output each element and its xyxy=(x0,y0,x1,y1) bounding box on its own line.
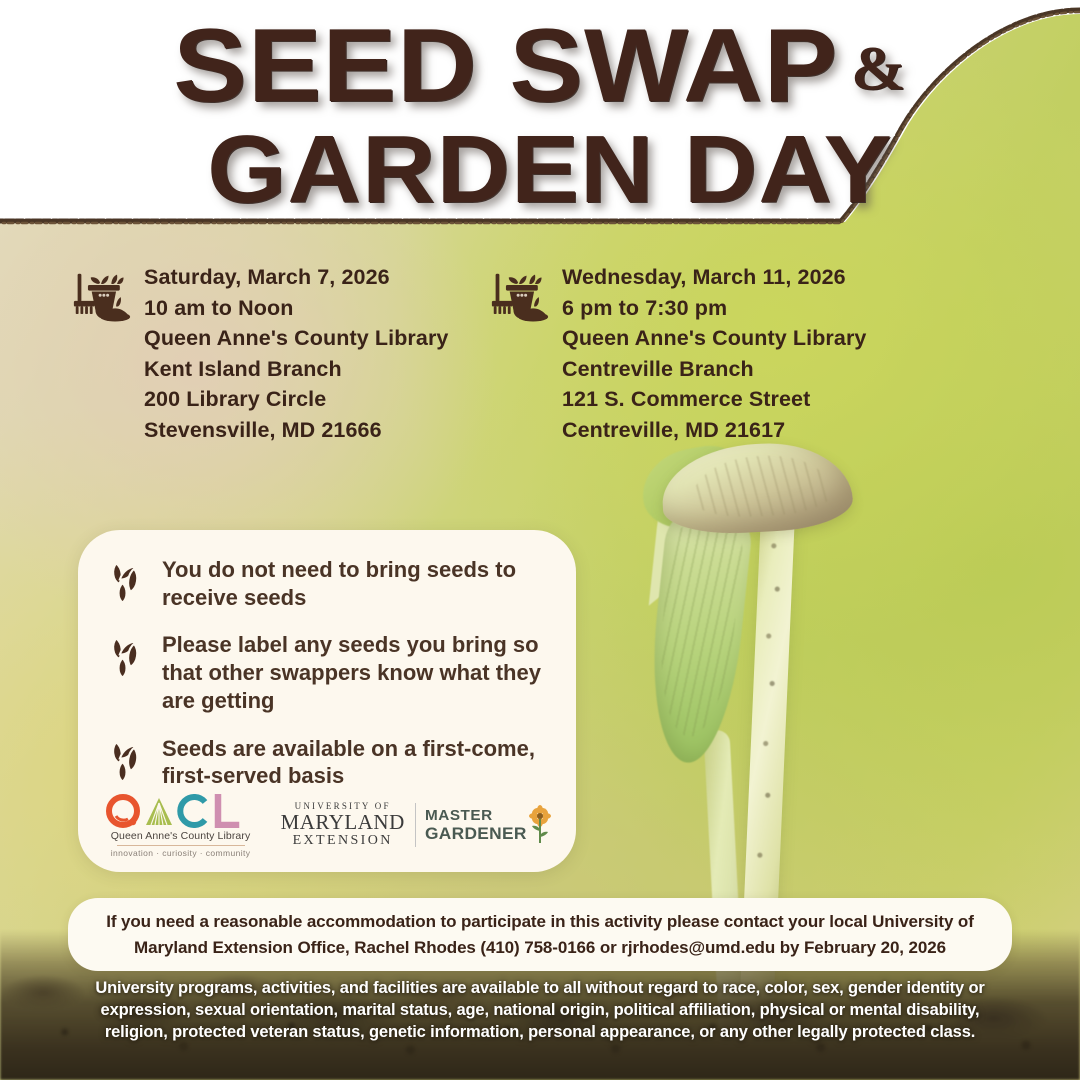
qacl-tagline: innovation · curiosity · community xyxy=(101,848,261,858)
seed-swap-flyer: SEED SWAP& GARDEN DAY xyxy=(0,0,1080,1080)
sprouting-seed-icon xyxy=(100,633,154,683)
event-1-branch: Kent Island Branch xyxy=(144,354,448,385)
event-1-street: 200 Library Circle xyxy=(144,384,448,415)
event-details-row: Saturday, March 7, 2026 10 am to Noon Qu… xyxy=(0,262,1080,445)
tip-text: Seeds are available on a first-come, fir… xyxy=(162,735,554,790)
tip-text: Please label any seeds you bring so that… xyxy=(162,631,554,714)
tip-text: You do not need to bring seeds to receiv… xyxy=(162,556,554,611)
event-1-citystate: Stevensville, MD 21666 xyxy=(144,415,448,446)
list-item: Please label any seeds you bring so that… xyxy=(100,631,554,714)
event-block-2: Wednesday, March 11, 2026 6 pm to 7:30 p… xyxy=(490,262,960,445)
event-2-venue: Queen Anne's County Library xyxy=(562,323,866,354)
sprouting-seed-icon xyxy=(100,737,154,787)
event-2-street: 121 S. Commerce Street xyxy=(562,384,866,415)
poster-title-line-1: SEED SWAP& xyxy=(173,14,907,118)
event-2-time: 6 pm to 7:30 pm xyxy=(562,293,866,324)
umd-line-2: MARYLAND xyxy=(281,812,405,833)
qacl-name: Queen Anne's County Library xyxy=(101,830,261,842)
list-item: You do not need to bring seeds to receiv… xyxy=(100,556,554,611)
event-2-branch: Centreville Branch xyxy=(562,354,866,385)
umd-master-gardener-logo: UNIVERSITY OF MARYLAND EXTENSION MASTER … xyxy=(281,802,554,848)
event-2-date: Wednesday, March 11, 2026 xyxy=(562,262,866,293)
master-gardener-text: MASTER GARDENER xyxy=(426,808,526,842)
nondiscrimination-disclaimer: University programs, activities, and fac… xyxy=(84,978,996,1043)
qacl-letters-svg xyxy=(106,794,256,828)
event-1-venue: Queen Anne's County Library xyxy=(144,323,448,354)
accommodation-notice: If you need a reasonable accommodation t… xyxy=(68,898,1012,971)
poster-title-line-2: GARDEN DAY xyxy=(188,122,892,218)
sprouting-seed-icon xyxy=(100,558,154,608)
umd-line-3: EXTENSION xyxy=(281,834,405,848)
event-2-text: Wednesday, March 11, 2026 6 pm to 7:30 p… xyxy=(562,262,866,445)
tips-list: You do not need to bring seeds to receiv… xyxy=(78,530,576,790)
flower-icon xyxy=(527,805,553,845)
title-block: SEED SWAP& GARDEN DAY xyxy=(0,14,1080,218)
header-banner: SEED SWAP& GARDEN DAY xyxy=(0,0,1080,250)
garden-tools-icon xyxy=(72,268,132,330)
event-1-date: Saturday, March 7, 2026 xyxy=(144,262,448,293)
master-gardener-logo: MASTER GARDENER xyxy=(426,805,554,845)
event-1-time: 10 am to Noon xyxy=(144,293,448,324)
partner-logos-row: Queen Anne's County Library innovation ·… xyxy=(78,792,576,858)
master-gardener-line-2: GARDENER xyxy=(425,825,527,842)
event-1-text: Saturday, March 7, 2026 10 am to Noon Qu… xyxy=(144,262,448,445)
umd-extension-logo: UNIVERSITY OF MARYLAND EXTENSION xyxy=(281,802,405,848)
qacl-logo: Queen Anne's County Library innovation ·… xyxy=(101,792,261,858)
logo-divider xyxy=(415,803,416,847)
event-block-1: Saturday, March 7, 2026 10 am to Noon Qu… xyxy=(72,262,482,445)
garden-tools-icon xyxy=(490,268,550,330)
list-item: Seeds are available on a first-come, fir… xyxy=(100,735,554,790)
event-2-citystate: Centreville, MD 21617 xyxy=(562,415,866,446)
ampersand-glyph: & xyxy=(851,38,907,100)
qacl-lettermark xyxy=(101,792,261,828)
qacl-divider xyxy=(117,845,245,846)
master-gardener-line-1: MASTER xyxy=(425,808,527,823)
tips-card: You do not need to bring seeds to receiv… xyxy=(78,530,576,872)
